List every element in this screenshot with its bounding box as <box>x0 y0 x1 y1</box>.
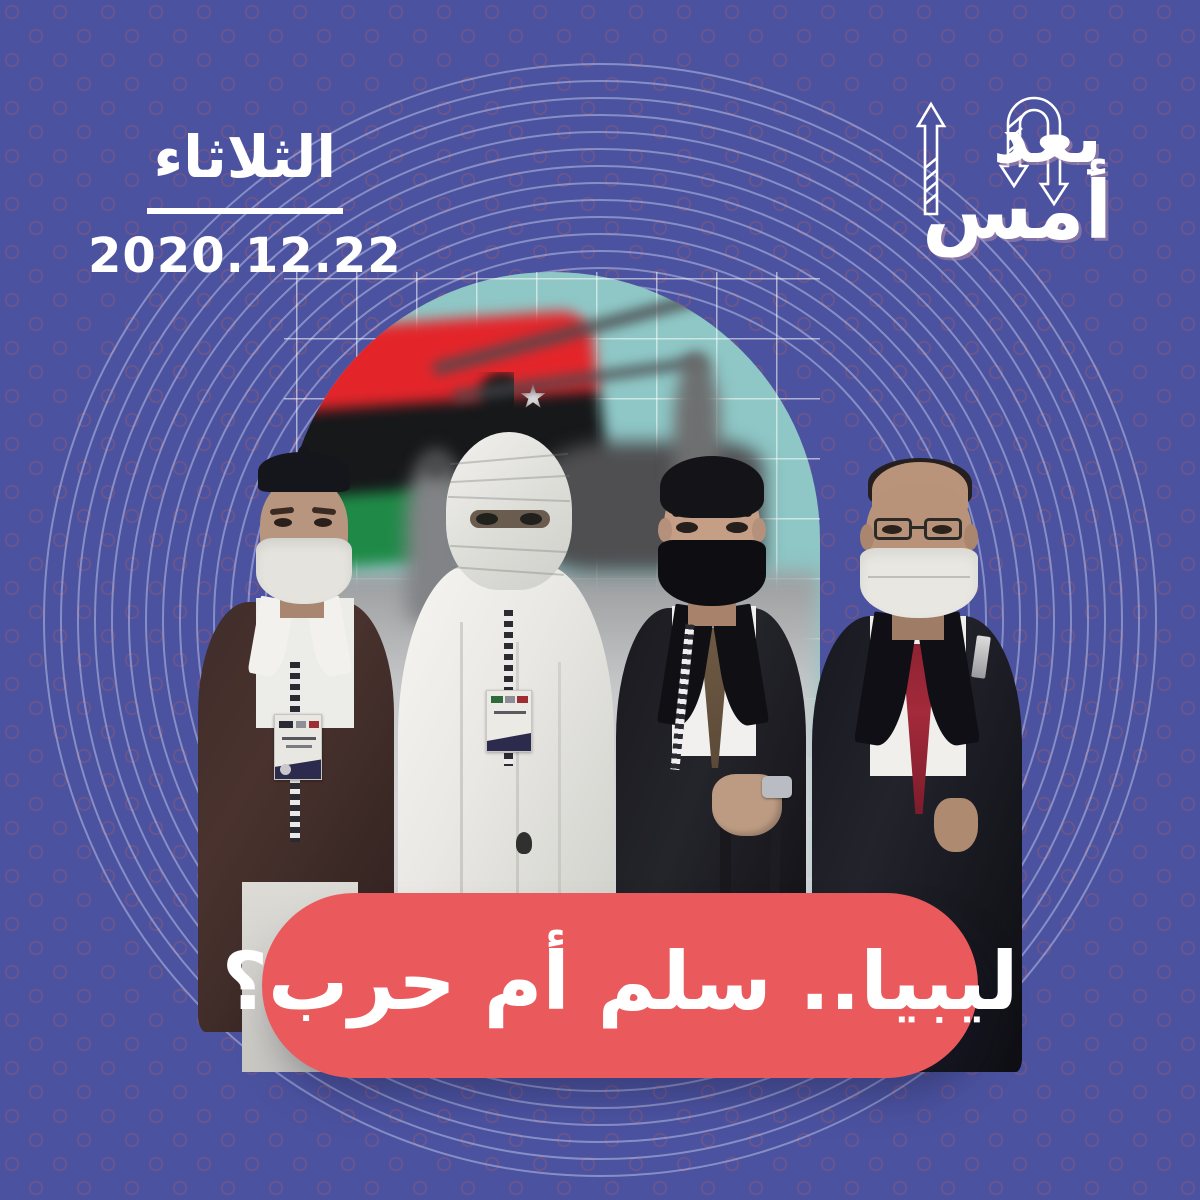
white-face-mask <box>860 548 978 618</box>
conference-badge <box>486 690 532 752</box>
conference-badge <box>274 714 322 780</box>
headline-banner: ليبيا.. سلم أم حرب؟ <box>262 893 978 1078</box>
logo-text: بعد أمس <box>930 104 1102 248</box>
wristwatch <box>762 776 792 798</box>
headline-text: ليبيا.. سلم أم حرب؟ <box>222 942 1019 1030</box>
hand <box>934 798 978 852</box>
logo-line-2: أمس <box>930 174 1112 248</box>
weekday-label: الثلاثاء <box>88 128 402 186</box>
black-cap <box>258 452 350 492</box>
brand-logo: بعد أمس <box>890 86 1140 286</box>
social-card: الثلاثاء 2020.12.22 بعد أمس <box>0 0 1200 1200</box>
logo-line-1: بعد <box>930 104 1102 170</box>
date-label: 2020.12.22 <box>88 232 402 280</box>
date-divider <box>147 208 343 214</box>
hair <box>660 456 764 518</box>
date-block: الثلاثاء 2020.12.22 <box>88 128 402 280</box>
white-face-mask <box>256 538 352 604</box>
black-face-mask <box>658 540 766 606</box>
